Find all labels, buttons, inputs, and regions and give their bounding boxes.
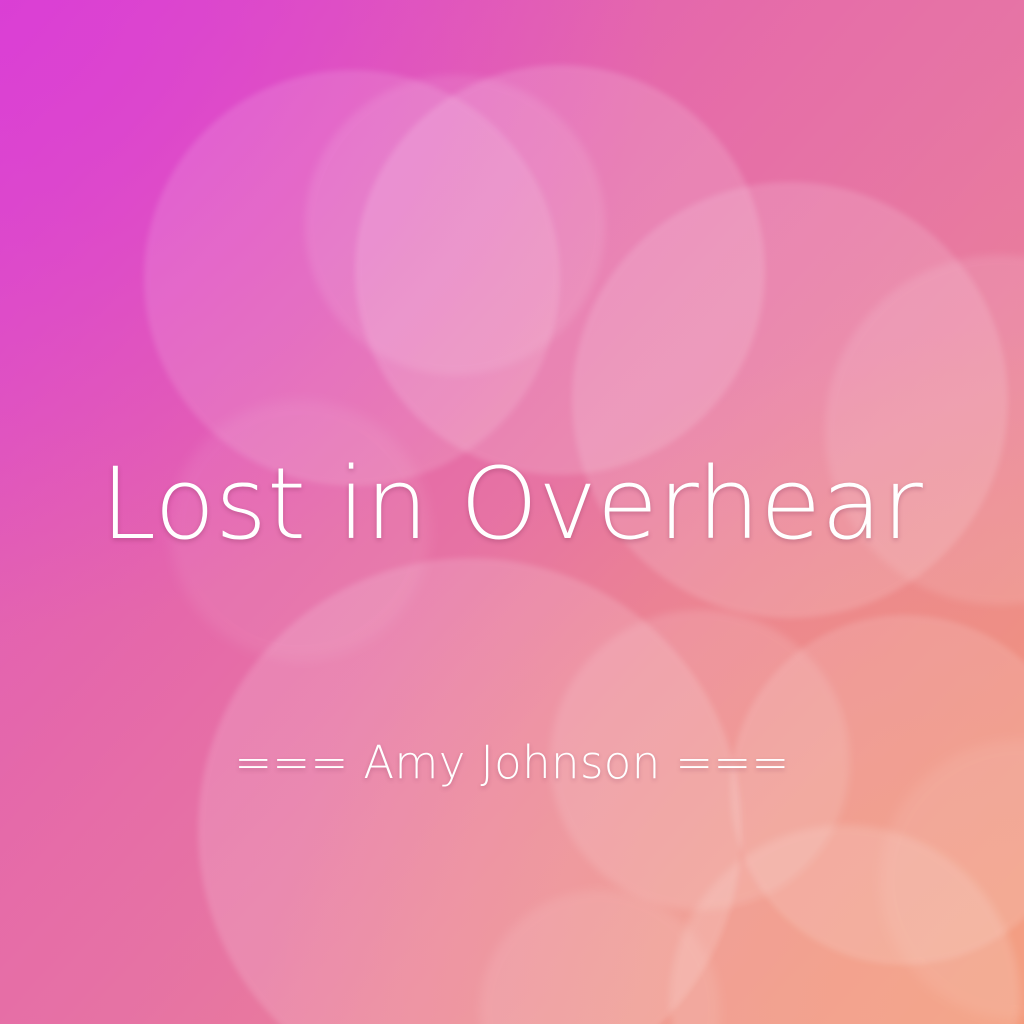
cover-subtitle-artist: === Amy Johnson === <box>0 740 1024 785</box>
cover-title: Lost in Overhear <box>0 455 1024 554</box>
album-cover-artwork: Lost in Overhear === Amy Johnson === <box>0 0 1024 1024</box>
cover-text-layer: Lost in Overhear === Amy Johnson === <box>0 0 1024 1024</box>
